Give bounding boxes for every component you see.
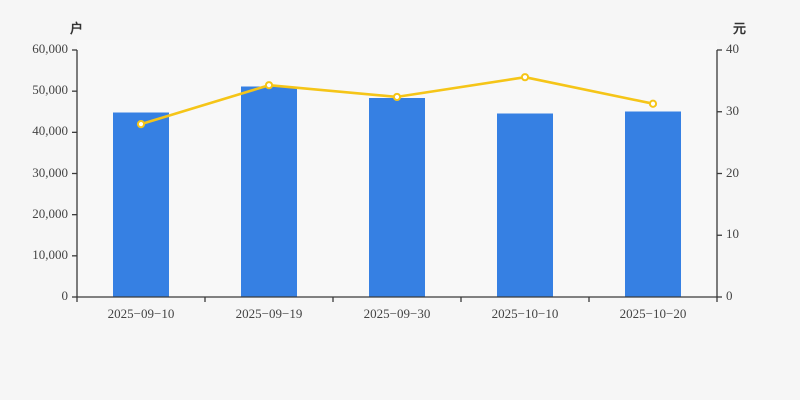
line-marker-2025-09-19[interactable] [266,82,272,88]
right-tick-label-4: 40 [726,41,776,57]
bar-2025-09-10[interactable] [113,112,169,297]
left-tick-label-6: 60,000 [2,41,68,57]
bar-2025-09-30[interactable] [369,98,425,297]
left-tick-label-2: 20,000 [2,206,68,222]
plot-area [0,0,800,400]
chart-container: 户 元 010,00020,00030,00040,00050,00060,00… [0,0,800,400]
x-axis-label-2025-09-30: 2025−09−30 [337,306,457,322]
right-tick-label-2: 20 [726,165,776,181]
left-tick-label-5: 50,000 [2,82,68,98]
line-marker-2025-10-20[interactable] [650,101,656,107]
right-tick-label-0: 0 [726,288,776,304]
x-axis-label-2025-10-20: 2025−10−20 [593,306,713,322]
right-tick-label-3: 30 [726,103,776,119]
left-tick-label-3: 30,000 [2,165,68,181]
left-tick-label-4: 40,000 [2,123,68,139]
bar-2025-10-10[interactable] [497,113,553,297]
line-marker-2025-09-30[interactable] [394,94,400,100]
line-marker-2025-10-10[interactable] [522,74,528,80]
left-tick-label-1: 10,000 [2,247,68,263]
x-axis-label-2025-09-19: 2025−09−19 [209,306,329,322]
x-axis-label-2025-10-10: 2025−10−10 [465,306,585,322]
left-tick-label-0: 0 [2,288,68,304]
bar-2025-10-20[interactable] [625,111,681,297]
x-axis-label-2025-09-10: 2025−09−10 [81,306,201,322]
bar-2025-09-19[interactable] [241,87,297,297]
right-tick-label-1: 10 [726,226,776,242]
line-marker-2025-09-10[interactable] [138,121,144,127]
